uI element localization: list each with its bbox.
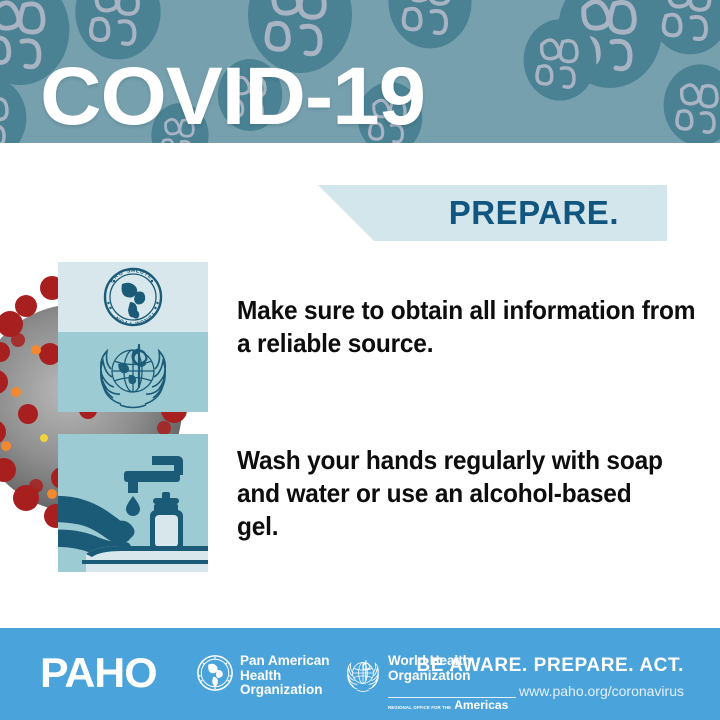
who-regional-office: REGIONAL OFFICE FOR THE Americas <box>388 699 518 712</box>
footer-paho-org-name: Pan American Health Organization <box>240 654 330 698</box>
who-region-americas: Americas <box>454 699 508 711</box>
prepare-banner: PREPARE. <box>318 185 667 241</box>
footer-who-emblem-icon <box>344 654 382 692</box>
footer-url[interactable]: www.paho.org/coronavirus <box>519 684 684 699</box>
paho-org-line3: Organization <box>240 683 330 697</box>
handwashing-icon <box>58 434 208 572</box>
who-regional-label: REGIONAL OFFICE FOR THE <box>388 704 451 712</box>
footer-slogan: BE AWARE. PREPARE. ACT. <box>416 656 684 676</box>
poster-footer: PAHO <box>0 628 720 720</box>
paho-org-line1: Pan American <box>240 654 330 668</box>
tile-paho-seal: P R O S A L U T E N O V I M U N D <box>58 262 208 332</box>
svg-text:A: A <box>131 268 135 274</box>
tile-handwashing <box>58 434 208 572</box>
covid-prepare-poster: COVID-19 PREPARE. <box>0 0 720 720</box>
footer-paho-seal-icon <box>196 654 234 692</box>
paho-wordmark: PAHO <box>40 652 157 694</box>
banner-label: PREPARE. <box>449 194 619 232</box>
message-reliable-source: Make sure to obtain all information from… <box>237 294 707 360</box>
page-title: COVID-19 <box>40 56 425 138</box>
paho-seal-icon: P R O S A L U T E N O V I M U N D <box>58 262 208 332</box>
message-wash-hands: Wash your hands regularly with soap and … <box>237 444 679 543</box>
paho-org-line2: Health <box>240 669 330 683</box>
tile-who-emblem <box>58 332 208 412</box>
poster-header: COVID-19 <box>0 0 720 143</box>
who-emblem-icon <box>58 332 208 412</box>
